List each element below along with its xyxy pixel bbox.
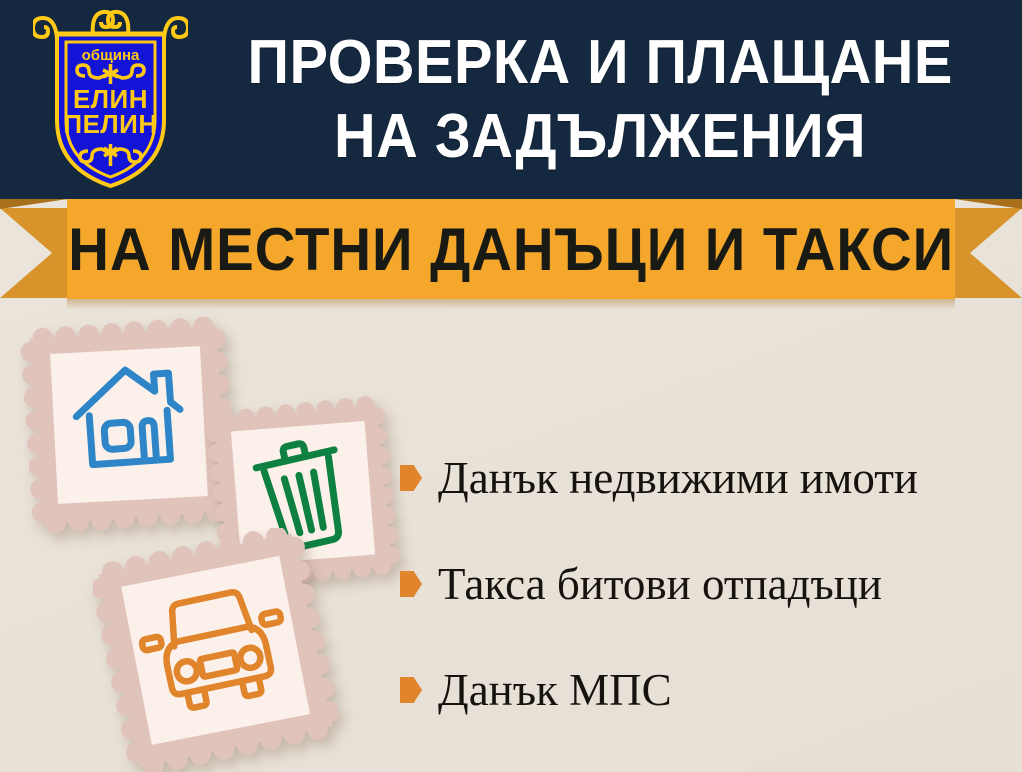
ribbon-shadow (67, 299, 955, 310)
ribbon-fold-right (954, 199, 1022, 209)
arrow-bullet-icon (400, 571, 422, 597)
vehicle-tax-stamp (93, 528, 338, 772)
title-line-2: НА ЗАДЪЛЖЕНИЯ (334, 100, 866, 174)
list-item[interactable]: Такса битови отпадъци (400, 531, 1010, 637)
page-title: ПРОВЕРКА И ПЛАЩАНЕ НА ЗАДЪЛЖЕНИЯ (190, 10, 1010, 190)
ribbon-band: НА МЕСТНИ ДАНЪЦИ И ТАКСИ (67, 199, 955, 299)
list-item-label: Такса битови отпадъци (438, 560, 882, 608)
list-item[interactable]: Данък недвижими имоти (400, 425, 1010, 531)
arrow-bullet-icon (400, 465, 422, 491)
title-line-1: ПРОВЕРКА И ПЛАЩАНЕ (247, 26, 952, 100)
list-item[interactable]: Данък МПС (400, 637, 1010, 743)
municipality-logo: община ЕЛИН ПЕЛИН (33, 8, 188, 190)
vehicle-tax-stamp-graphic (93, 528, 338, 772)
logo-community-label: община (82, 47, 140, 64)
ribbon-banner: НА МЕСТНИ ДАНЪЦИ И ТАКСИ (0, 199, 1022, 311)
coat-of-arms-icon: община ЕЛИН ПЕЛИН (33, 8, 188, 190)
ribbon-label: НА МЕСТНИ ДАНЪЦИ И ТАКСИ (68, 215, 954, 284)
list-item-label: Данък МПС (438, 666, 672, 714)
ribbon-fold-left (0, 199, 68, 209)
list-item-label: Данък недвижими имоти (438, 454, 918, 502)
poster-canvas: община ЕЛИН ПЕЛИН ПРОВЕРКА И ПЛАЩАНЕ НА … (0, 0, 1022, 772)
tax-type-list: Данък недвижими имоти Такса битови отпад… (400, 425, 1010, 743)
logo-name-line2: ПЕЛИН (63, 109, 157, 139)
arrow-bullet-icon (400, 677, 422, 703)
